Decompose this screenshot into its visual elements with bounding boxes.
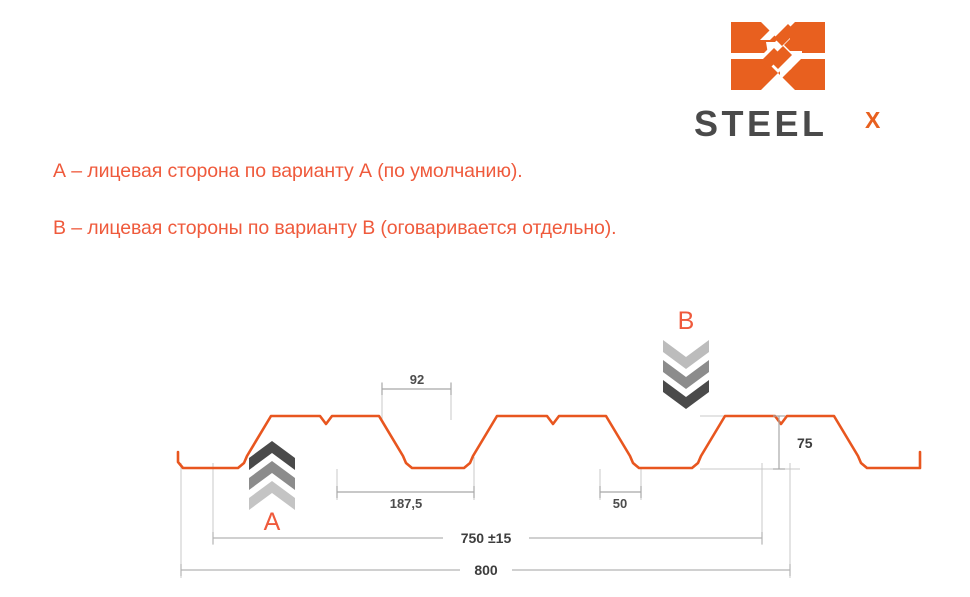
dim-187-5-group: 187,5 bbox=[337, 486, 474, 511]
dim-187-5-label: 187,5 bbox=[390, 496, 423, 511]
dim-50-label: 50 bbox=[613, 496, 627, 511]
marker-a: A bbox=[249, 441, 295, 536]
extension-lines bbox=[181, 382, 800, 578]
marker-a-label: A bbox=[264, 508, 281, 536]
dim-750-label: 750 ±15 bbox=[461, 530, 512, 546]
dim-800-label: 800 bbox=[474, 562, 498, 578]
dim-800-group: 800 bbox=[181, 559, 790, 579]
dim-75-label: 75 bbox=[797, 435, 813, 451]
marker-b-label: B bbox=[678, 307, 695, 335]
marker-a-chevrons-icon bbox=[249, 441, 295, 510]
dim-50-group: 50 bbox=[600, 486, 641, 511]
profile-technical-drawing: 92 187,5 50 75 750 ±15 800 bbox=[0, 0, 970, 597]
dim-92-label: 92 bbox=[410, 372, 424, 387]
dim-92-group: 92 bbox=[382, 371, 451, 395]
marker-b: B bbox=[663, 307, 709, 409]
dim-75-group: 75 bbox=[773, 416, 813, 469]
marker-b-chevrons-icon bbox=[663, 340, 709, 409]
dim-750-group: 750 ±15 bbox=[213, 527, 762, 547]
